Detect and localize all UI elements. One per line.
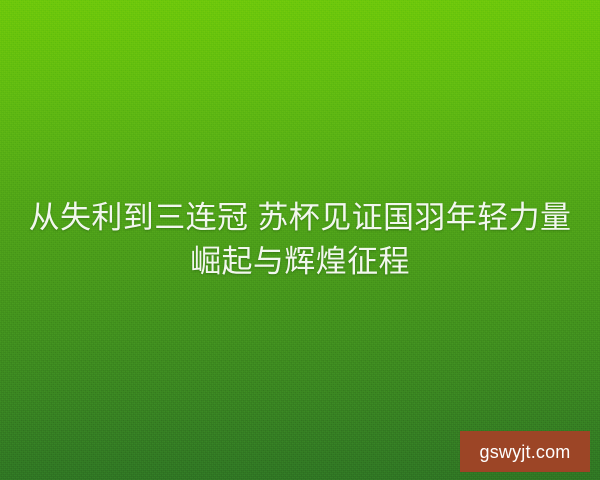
poster-image: 从失利到三连冠 苏杯见证国羽年轻力量 崛起与辉煌征程 gswyjt.com [0, 0, 600, 480]
headline-text: 从失利到三连冠 苏杯见证国羽年轻力量 崛起与辉煌征程 [0, 196, 600, 284]
watermark-badge: gswyjt.com [460, 431, 590, 472]
watermark-label: gswyjt.com [479, 443, 570, 461]
